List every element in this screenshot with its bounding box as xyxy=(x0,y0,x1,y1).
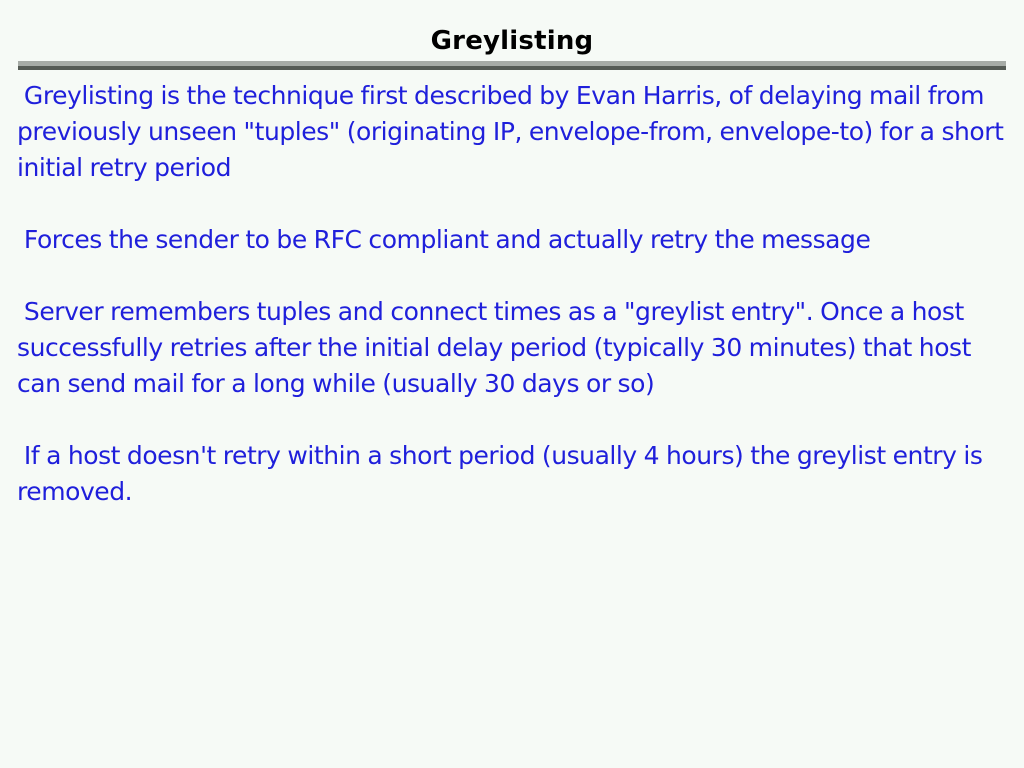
paragraph-greylist-entry: Server remembers tuples and connect time… xyxy=(17,294,1007,402)
title-divider xyxy=(18,61,1006,70)
slide-body: Greylisting is the technique first descr… xyxy=(17,78,1007,510)
paragraph-spacer xyxy=(17,258,1007,294)
divider-shadow xyxy=(18,66,1006,70)
paragraph-entry-removal: If a host doesn't retry within a short p… xyxy=(17,438,1007,510)
paragraph-definition: Greylisting is the technique first descr… xyxy=(17,78,1007,186)
page-title: Greylisting xyxy=(0,26,1024,56)
paragraph-spacer xyxy=(17,186,1007,222)
paragraph-rfc-compliance: Forces the sender to be RFC compliant an… xyxy=(17,222,1007,258)
slide-canvas: Greylisting Greylisting is the technique… xyxy=(0,0,1024,768)
paragraph-spacer xyxy=(17,402,1007,438)
